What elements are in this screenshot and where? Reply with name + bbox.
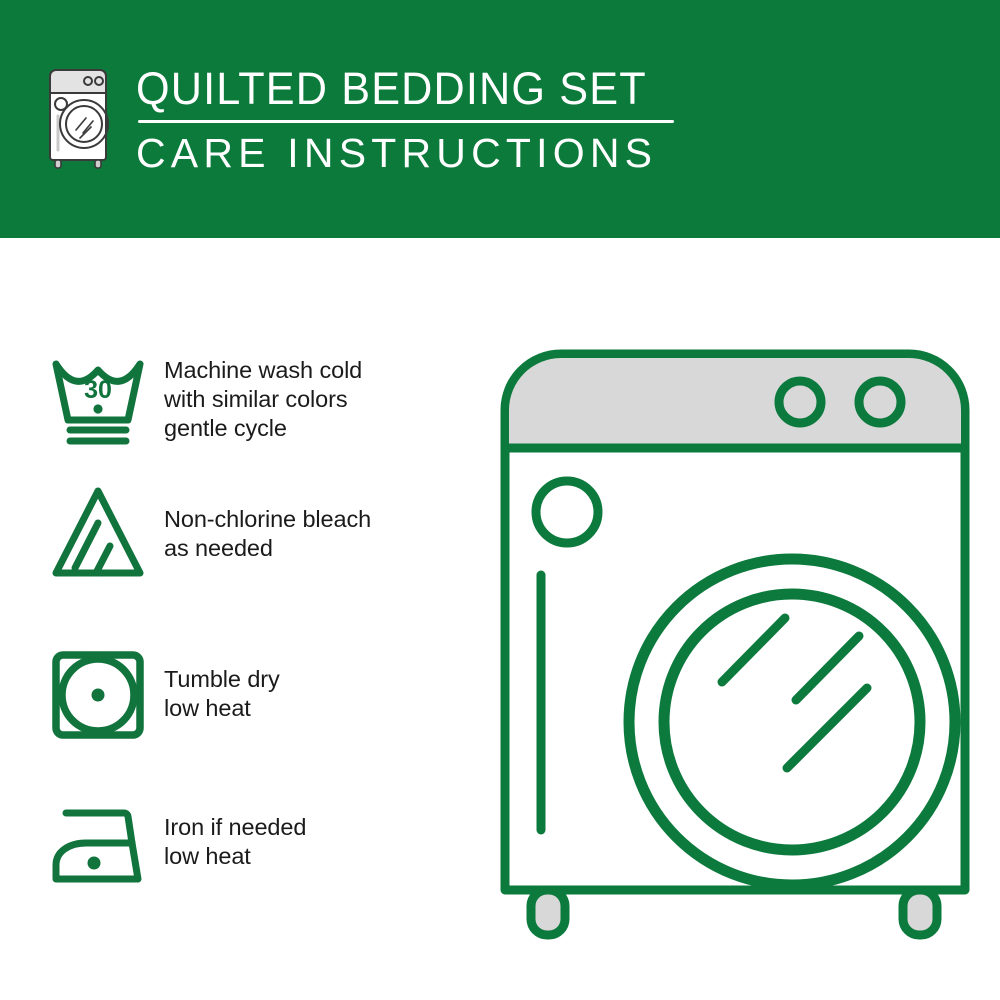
- leg-left: [531, 890, 565, 935]
- wash-temperature-label: 30: [84, 376, 112, 404]
- non-chlorine-bleach-triangle-icon: [48, 483, 156, 583]
- care-instructions-list: 30 Machine wash cold with similar colors…: [0, 238, 500, 1000]
- front-load-washing-machine-illustration: [495, 330, 975, 940]
- header-content: QUILTED BEDDING SET CARE INSTRUCTIONS: [44, 62, 674, 176]
- care-instruction-text: Non-chlorine bleach as needed: [156, 483, 371, 563]
- washing-machine-icon: [44, 62, 118, 170]
- care-instruction-text: Machine wash cold with similar colors ge…: [156, 348, 362, 443]
- leg-right: [903, 890, 937, 935]
- wash-basin-30-gentle-icon: 30: [48, 348, 156, 448]
- control-panel: [509, 358, 961, 448]
- care-instruction-item: 30 Machine wash cold with similar colors…: [48, 348, 362, 448]
- care-instruction-text: Tumble dry low heat: [156, 643, 280, 723]
- care-instruction-item: Tumble dry low heat: [48, 643, 280, 743]
- header-text-block: QUILTED BEDDING SET CARE INSTRUCTIONS: [136, 62, 674, 176]
- page-title: QUILTED BEDDING SET: [136, 64, 652, 114]
- care-instruction-item: Non-chlorine bleach as needed: [48, 483, 371, 583]
- care-instruction-item: Iron if needed low heat: [48, 793, 306, 893]
- page-subtitle: CARE INSTRUCTIONS: [136, 130, 674, 176]
- header-banner: QUILTED BEDDING SET CARE INSTRUCTIONS: [0, 0, 1000, 238]
- care-instruction-text: Iron if needed low heat: [156, 793, 306, 871]
- iron-low-heat-icon: [48, 793, 156, 893]
- header-divider: [138, 120, 674, 123]
- tumble-dry-low-heat-icon: [48, 643, 156, 743]
